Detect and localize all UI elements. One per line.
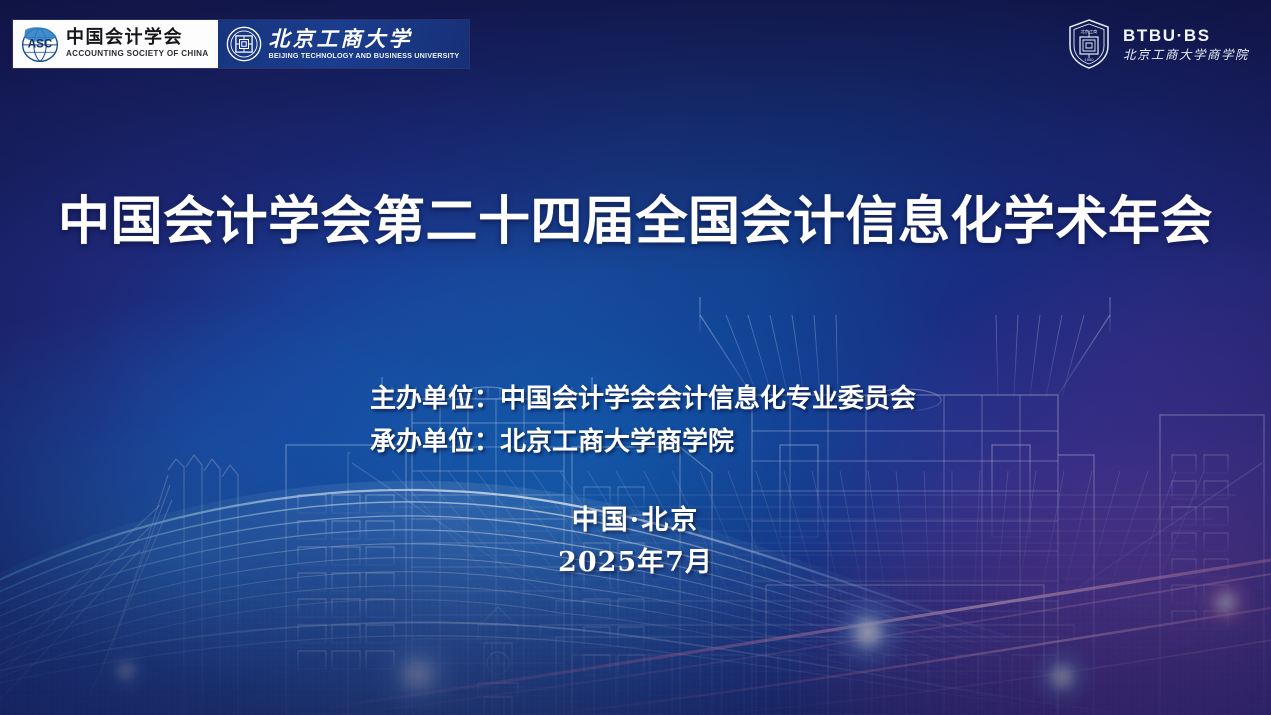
asc-wordmark: 中国会计学会 ACCOUNTING SOCIETY OF CHINA xyxy=(66,29,209,58)
conference-slide: ASC 中国会计学会 ACCOUNTING SOCIETY OF CHINA 北… xyxy=(0,0,1271,715)
venue-date: 2025年7月 xyxy=(0,542,1271,584)
asc-name-cn: 中国会计学会 xyxy=(66,29,209,47)
asc-name-en: ACCOUNTING SOCIETY OF CHINA xyxy=(66,50,209,58)
venue-place: 中国·北京 xyxy=(0,500,1271,542)
btbu-wordmark: 北京工商大学 BEIJING TECHNOLOGY AND BUSINESS U… xyxy=(269,28,460,59)
asc-logo: ASC 中国会计学会 ACCOUNTING SOCIETY OF CHINA xyxy=(13,20,218,68)
circular-seal-icon xyxy=(226,26,262,62)
venue-block: 中国·北京 2025年7月 xyxy=(0,500,1271,584)
shield-crest-icon: 北京工商 1950 xyxy=(1067,18,1111,70)
host-line: 承办单位：北京工商大学商学院 xyxy=(0,421,1271,464)
btbu-name-en: BEIJING TECHNOLOGY AND BUSINESS UNIVERSI… xyxy=(269,52,460,59)
btbu-logo: 北京工商大学 BEIJING TECHNOLOGY AND BUSINESS U… xyxy=(218,20,470,68)
background-vignette xyxy=(0,0,1271,715)
btbu-name-cn: 北京工商大学 xyxy=(269,28,460,49)
globe-icon: ASC xyxy=(20,25,60,63)
organizer-line: 主办单位：中国会计学会会计信息化专业委员会 xyxy=(0,378,1271,421)
crest-abbr: BTBU·BS xyxy=(1123,27,1249,44)
organizer-block: 主办单位：中国会计学会会计信息化专业委员会 承办单位：北京工商大学商学院 xyxy=(0,378,1271,464)
logo-banner: ASC 中国会计学会 ACCOUNTING SOCIETY OF CHINA 北… xyxy=(13,20,469,68)
asc-abbr: ASC xyxy=(28,38,53,50)
crest-name-cn: 北京工商大学商学院 xyxy=(1123,49,1249,62)
page-title: 中国会计学会第二十四届全国会计信息化学术年会 xyxy=(0,194,1271,249)
crest-wordmark: BTBU·BS 北京工商大学商学院 xyxy=(1123,27,1249,62)
crest-motto: 北京工商 xyxy=(1081,28,1098,35)
crest-seal-year: 1950 xyxy=(1085,57,1095,62)
btbu-bs-crest: 北京工商 1950 BTBU·BS 北京工商大学商学院 xyxy=(1067,16,1249,72)
